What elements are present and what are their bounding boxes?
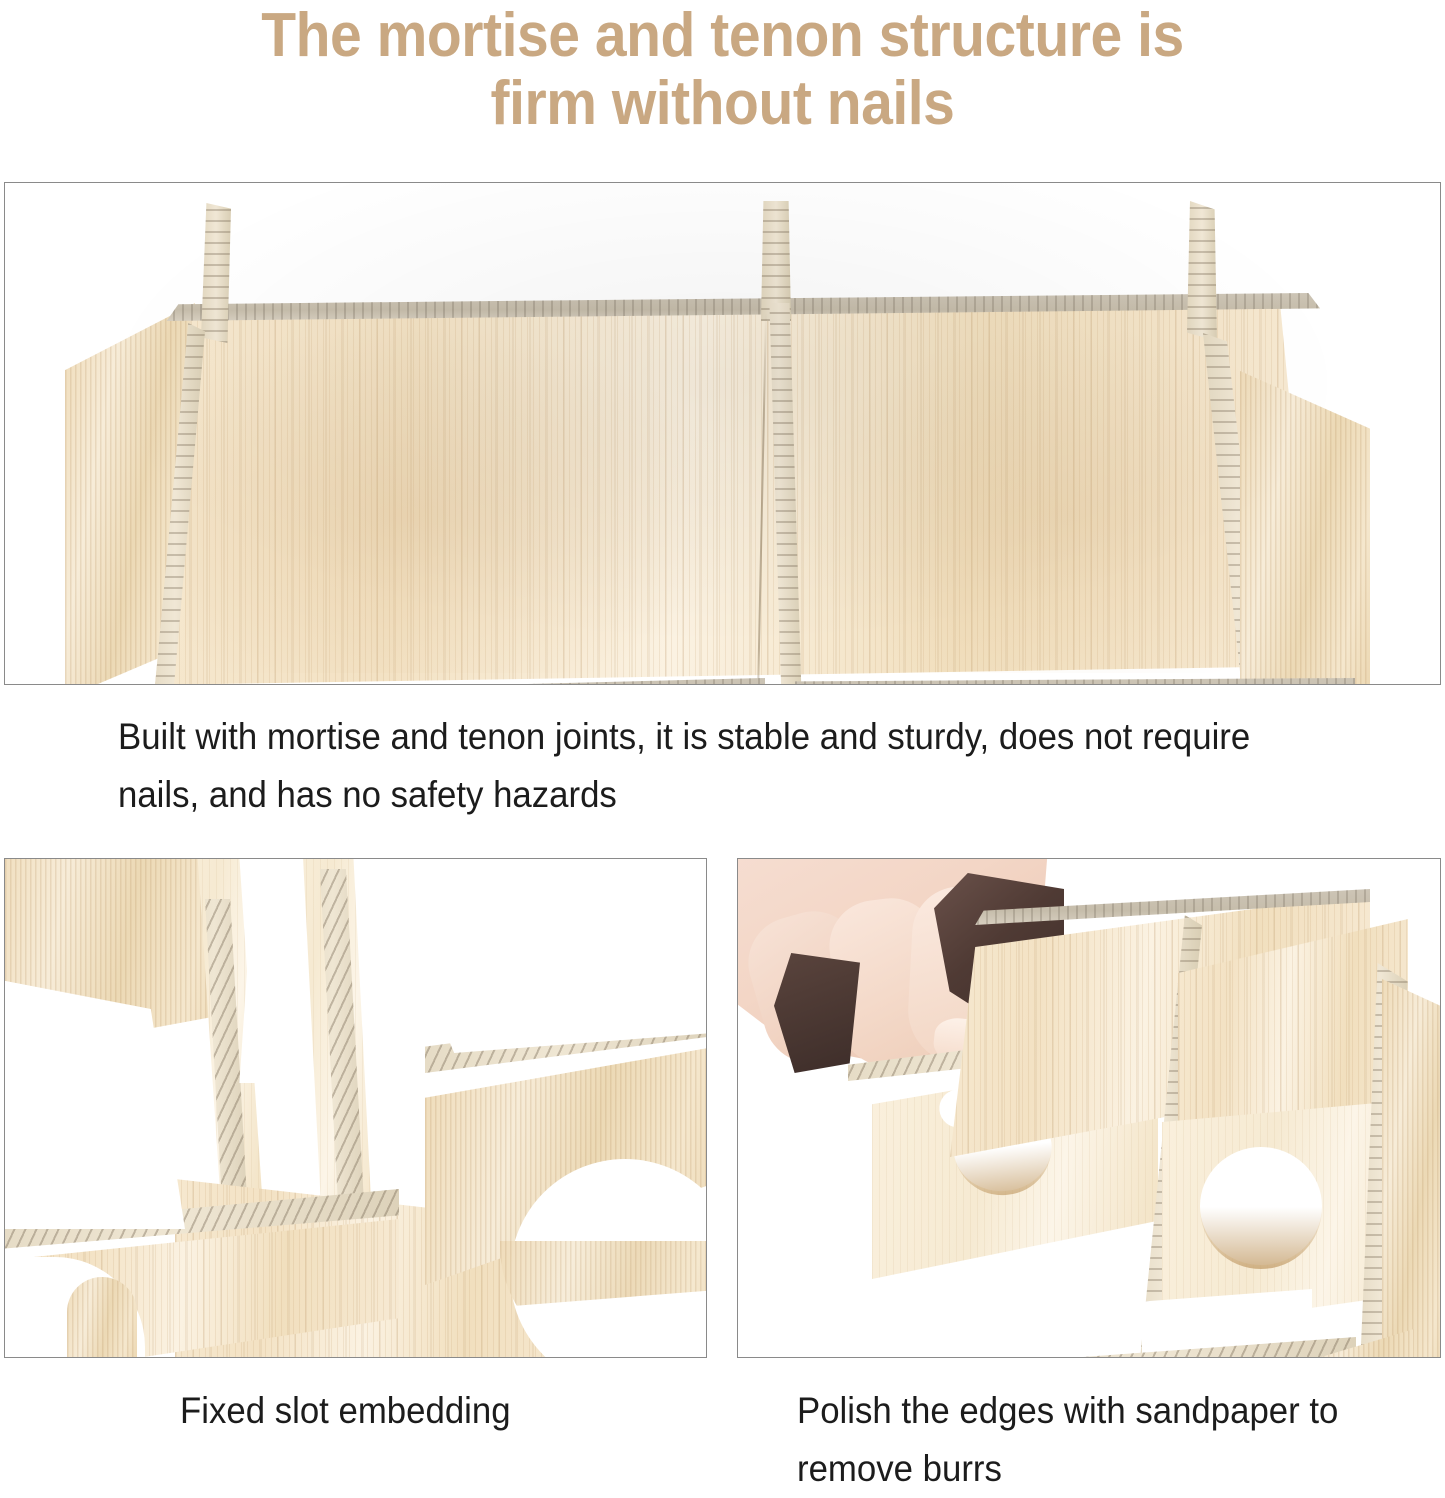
right-image-frame — [737, 858, 1441, 1358]
left-image-frame — [4, 858, 707, 1358]
hero-vignette — [5, 183, 1440, 684]
hero-image-frame — [4, 182, 1441, 685]
page-title: The mortise and tenon structure is firm … — [58, 2, 1387, 138]
gap-upper-right — [345, 859, 706, 1053]
arc-cutout-tab — [67, 1277, 137, 1357]
title-line-2: firm without nails — [58, 70, 1387, 138]
hero-caption-text: Built with mortise and tenon joints, it … — [118, 708, 1331, 824]
hero-product-photo — [5, 183, 1440, 684]
infographic-page: The mortise and tenon structure is firm … — [0, 0, 1445, 1481]
title-line-1: The mortise and tenon structure is — [261, 1, 1184, 70]
slot-joint-closeup-photo — [5, 859, 706, 1357]
sandpaper-polishing-photo — [738, 859, 1440, 1357]
right-outer-wall — [1382, 979, 1440, 1357]
left-image-caption: Fixed slot embedding — [180, 1382, 669, 1440]
